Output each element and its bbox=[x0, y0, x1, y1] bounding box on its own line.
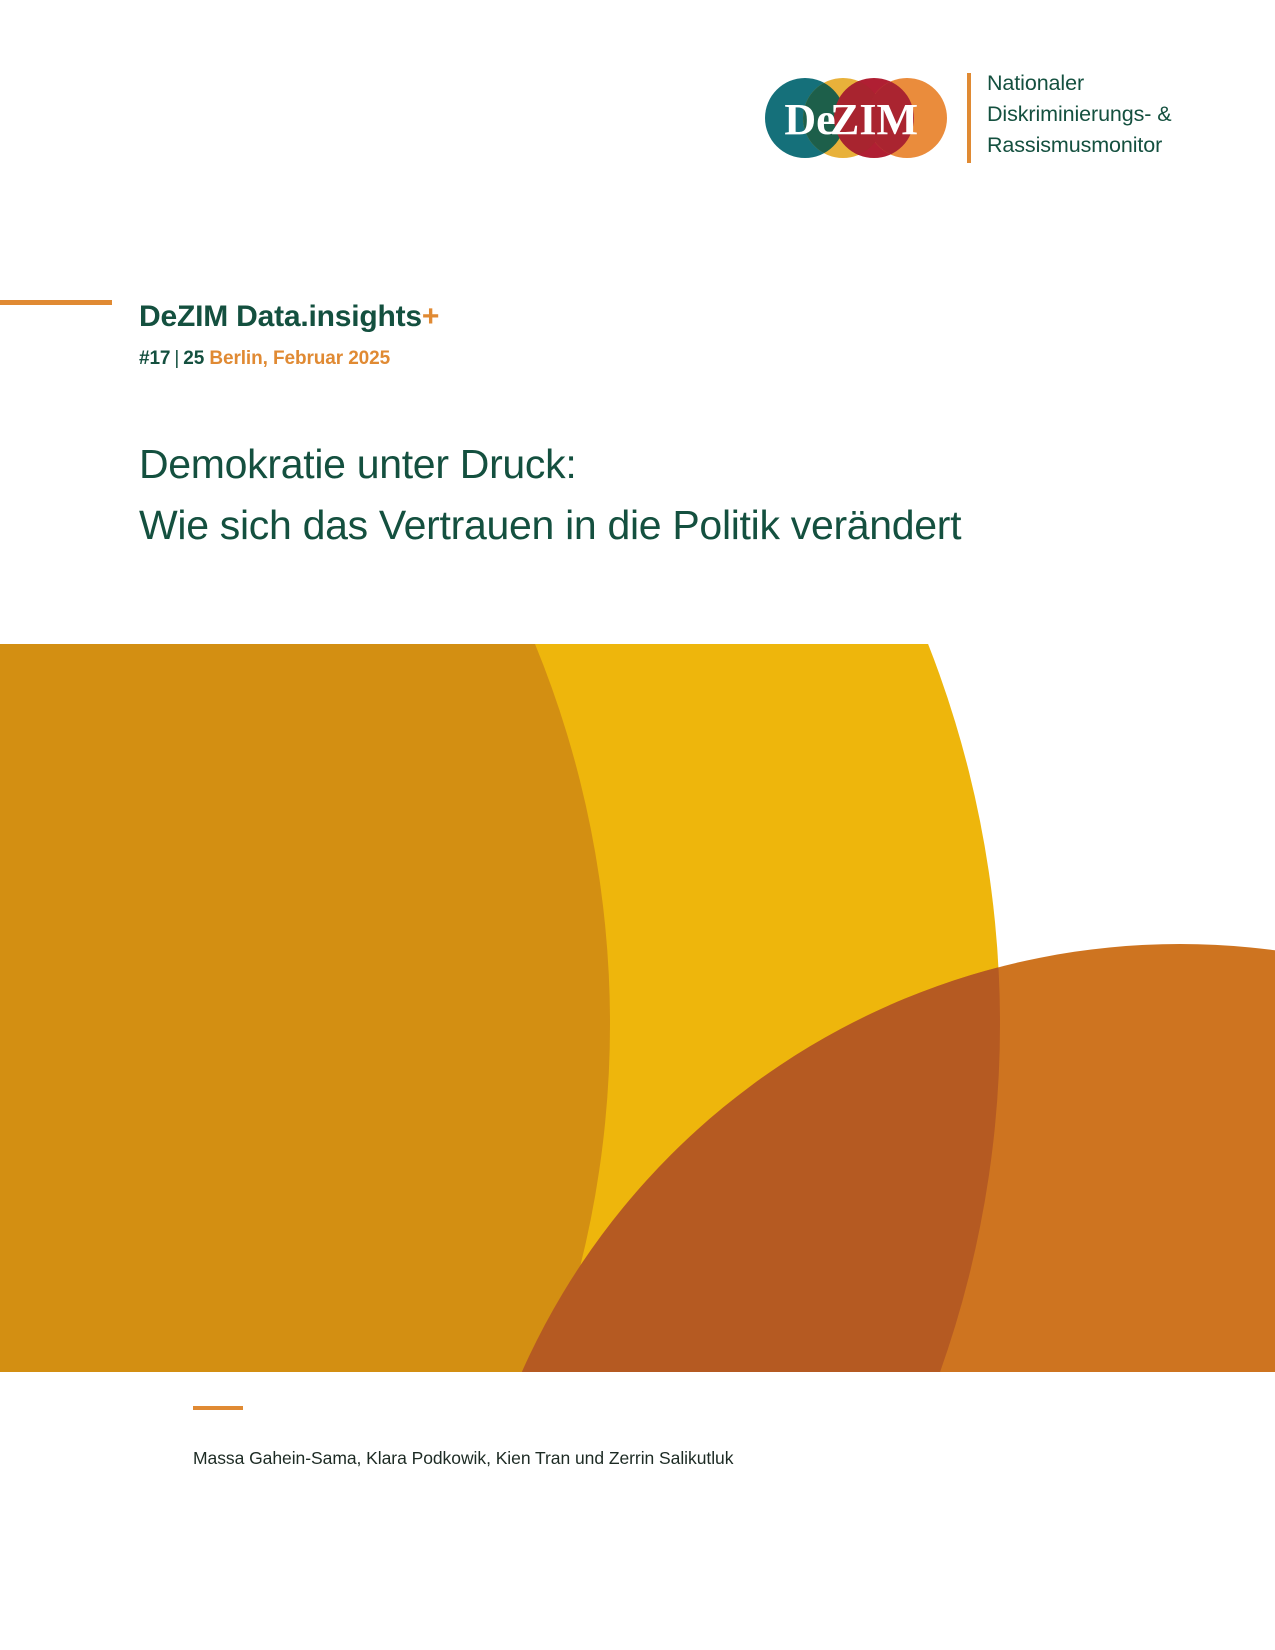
ochre-circle bbox=[0, 644, 610, 1372]
header-rule bbox=[0, 300, 112, 305]
page-title-line-2: Wie sich das Vertrauen in die Politik ve… bbox=[139, 495, 1139, 556]
cover-page: De ZIM Nationaler Diskriminierungs- & Ra… bbox=[0, 0, 1275, 1650]
issue-line: #17|25 Berlin, Februar 2025 bbox=[139, 349, 1039, 370]
series-header: DeZIM Data.insights+ #17|25 Berlin, Febr… bbox=[139, 300, 1039, 369]
series-title: DeZIM Data.insights+ bbox=[139, 300, 1039, 335]
logo-subtitle-line-2: Diskriminierungs- & bbox=[987, 99, 1202, 130]
dezim-logo: De ZIM Nationaler Diskriminierungs- & Ra… bbox=[757, 70, 1147, 166]
page-title: Demokratie unter Druck: Wie sich das Ver… bbox=[139, 434, 1139, 555]
author-list: Massa Gahein-Sama, Klara Podkowik, Kien … bbox=[193, 1448, 1093, 1469]
series-title-text: DeZIM Data.insights bbox=[139, 300, 422, 333]
dezim-logo-mark: De ZIM bbox=[757, 70, 947, 166]
cover-graphic bbox=[0, 644, 1275, 1372]
logo-subtitle: Nationaler Diskriminierungs- & Rassismus… bbox=[987, 68, 1202, 161]
logo-subtitle-line-3: Rassismusmonitor bbox=[987, 130, 1202, 161]
logo-subtitle-line-1: Nationaler bbox=[987, 68, 1202, 99]
issue-year: 25 bbox=[183, 348, 204, 369]
issue-place-date: Berlin, Februar 2025 bbox=[209, 348, 390, 369]
issue-number: #17 bbox=[139, 348, 170, 369]
series-title-plus: + bbox=[422, 300, 439, 333]
author-rule bbox=[193, 1406, 243, 1410]
logo-zim-text: ZIM bbox=[830, 95, 918, 144]
logo-divider bbox=[967, 73, 971, 163]
logo-de-text: De bbox=[784, 95, 835, 144]
cover-graphic-shapes bbox=[0, 644, 1275, 1372]
page-title-line-1: Demokratie unter Druck: bbox=[139, 434, 1139, 495]
issue-separator: | bbox=[170, 349, 183, 370]
dezim-logo-circles: De ZIM bbox=[757, 70, 947, 166]
